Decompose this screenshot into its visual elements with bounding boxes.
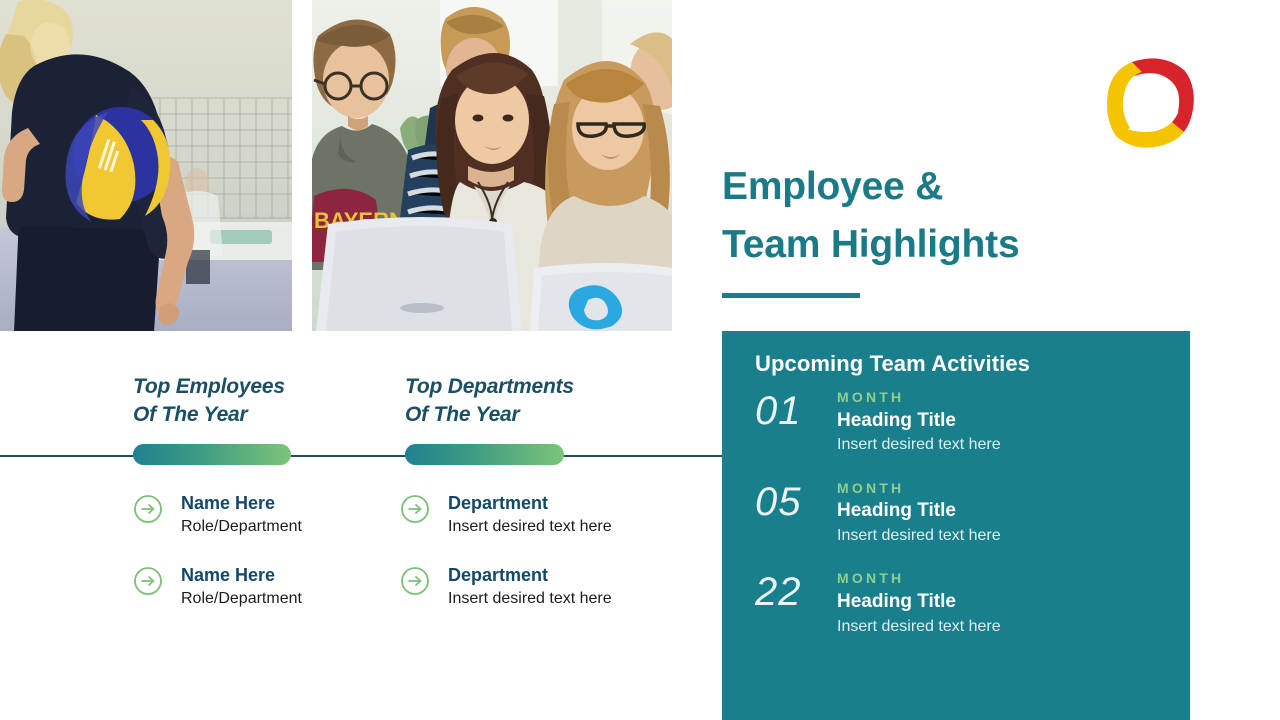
employees-gradient-pill bbox=[133, 444, 291, 465]
list-item[interactable]: Name Here Role/Department bbox=[133, 564, 413, 610]
arrow-circle-icon bbox=[133, 566, 163, 596]
list-item-title: Department bbox=[448, 492, 612, 515]
list-item-body: Department Insert desired text here bbox=[430, 564, 612, 610]
column-heading-line-1: Top Employees bbox=[133, 373, 403, 401]
activity-text-group: MONTH Heading Title Insert desired text … bbox=[835, 570, 1170, 637]
title-underline-rule bbox=[722, 293, 860, 298]
list-item-title: Name Here bbox=[181, 492, 302, 515]
list-item-title: Name Here bbox=[181, 564, 302, 587]
page-title: Employee & Team Highlights bbox=[722, 158, 1192, 298]
arrow-circle-icon bbox=[400, 494, 430, 524]
list-item[interactable]: Department Insert desired text here bbox=[400, 564, 700, 610]
top-employees-column-heading: Top Employees Of The Year bbox=[133, 373, 403, 429]
column-heading-line-2: Of The Year bbox=[133, 401, 403, 429]
brand-logo bbox=[1104, 50, 1196, 150]
activity-day-number: 01 bbox=[755, 389, 835, 431]
list-item[interactable]: Name Here Role/Department bbox=[133, 492, 413, 538]
upcoming-team-activities-panel: Upcoming Team Activities 01 MONTH Headin… bbox=[722, 331, 1190, 720]
column-heading-line-2: Of The Year bbox=[405, 401, 695, 429]
arrow-circle-icon bbox=[133, 494, 163, 524]
list-item-subtitle: Role/Department bbox=[181, 588, 302, 610]
activity-month-label: MONTH bbox=[837, 570, 1170, 588]
panel-heading: Upcoming Team Activities bbox=[755, 351, 1030, 377]
top-employees-list: Name Here Role/Department Name Here Role… bbox=[133, 492, 413, 636]
list-item-subtitle: Insert desired text here bbox=[448, 588, 612, 610]
activity-description: Insert desired text here bbox=[837, 525, 1170, 547]
activity-item[interactable]: 01 MONTH Heading Title Insert desired te… bbox=[755, 389, 1170, 456]
list-item-body: Name Here Role/Department bbox=[163, 492, 302, 538]
activity-month-label: MONTH bbox=[837, 389, 1170, 407]
activity-day-number: 22 bbox=[755, 570, 835, 612]
activity-heading: Heading Title bbox=[837, 408, 1170, 434]
top-departments-column-heading: Top Departments Of The Year bbox=[405, 373, 695, 429]
list-item-subtitle: Insert desired text here bbox=[448, 516, 612, 538]
list-item[interactable]: Department Insert desired text here bbox=[400, 492, 700, 538]
list-item-title: Department bbox=[448, 564, 612, 587]
arrow-circle-icon bbox=[400, 566, 430, 596]
activity-list: 01 MONTH Heading Title Insert desired te… bbox=[755, 389, 1170, 661]
page-title-line-1: Employee & bbox=[722, 158, 1192, 216]
activity-item[interactable]: 22 MONTH Heading Title Insert desired te… bbox=[755, 570, 1170, 637]
list-item-body: Name Here Role/Department bbox=[163, 564, 302, 610]
departments-gradient-pill bbox=[405, 444, 564, 465]
activity-heading: Heading Title bbox=[837, 589, 1170, 615]
activity-day-number: 05 bbox=[755, 480, 835, 522]
activity-description: Insert desired text here bbox=[837, 616, 1170, 638]
list-item-subtitle: Role/Department bbox=[181, 516, 302, 538]
slide-canvas: BAYERN bbox=[0, 0, 1280, 720]
activity-item[interactable]: 05 MONTH Heading Title Insert desired te… bbox=[755, 480, 1170, 547]
activity-description: Insert desired text here bbox=[837, 434, 1170, 456]
activity-text-group: MONTH Heading Title Insert desired text … bbox=[835, 389, 1170, 456]
activity-heading: Heading Title bbox=[837, 498, 1170, 524]
volleyball-player-photo bbox=[0, 0, 292, 331]
list-item-body: Department Insert desired text here bbox=[430, 492, 612, 538]
column-heading-line-1: Top Departments bbox=[405, 373, 695, 401]
page-title-line-2: Team Highlights bbox=[722, 216, 1192, 274]
top-departments-list: Department Insert desired text here Depa… bbox=[400, 492, 700, 636]
horizontal-divider bbox=[0, 455, 722, 457]
activity-month-label: MONTH bbox=[837, 480, 1170, 498]
activity-text-group: MONTH Heading Title Insert desired text … bbox=[835, 480, 1170, 547]
team-at-laptop-photo: BAYERN bbox=[312, 0, 672, 331]
